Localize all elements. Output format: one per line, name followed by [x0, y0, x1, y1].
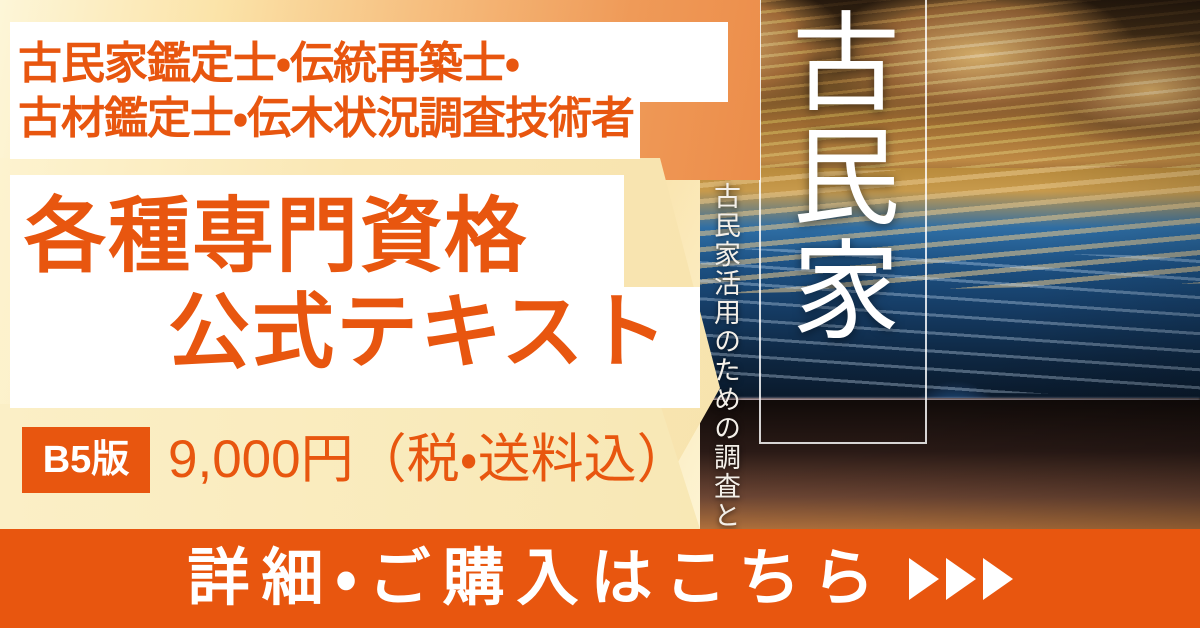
size-badge: B5版 — [22, 427, 150, 493]
cta-label: 詳細・ご購入はこちら — [187, 548, 886, 610]
triangle-right-icon — [983, 558, 1013, 600]
cta-inner: 詳細・ご購入はこちら — [187, 548, 1012, 610]
qualifications-line-2: 古材鑑定士・伝木状況調査技術者 — [18, 97, 634, 141]
headline-line-1: 各種専門資格 — [24, 196, 528, 278]
size-badge-label: B5版 — [43, 441, 130, 479]
triangle-right-icon — [946, 558, 976, 600]
promo-banner: 古民家 伝統構法 古民家活用のための調査と再生の 古民家鑑定士・伝統再築士・ 古… — [0, 0, 1200, 628]
qualifications-line-1: 古民家鑑定士・伝統再築士・ — [18, 42, 519, 86]
triangle-right-icon — [909, 558, 939, 600]
cta-arrow-group — [909, 558, 1013, 600]
headline-line-2: 公式テキスト — [168, 292, 670, 374]
cta-bar[interactable]: 詳細・ご購入はこちら — [0, 529, 1200, 628]
cover-title: 古民家 — [781, 6, 901, 348]
price-text: 9,000円（税・送料込） — [168, 433, 690, 486]
cover-caption-side: 古民家活用のための調査と再生の — [706, 182, 745, 529]
